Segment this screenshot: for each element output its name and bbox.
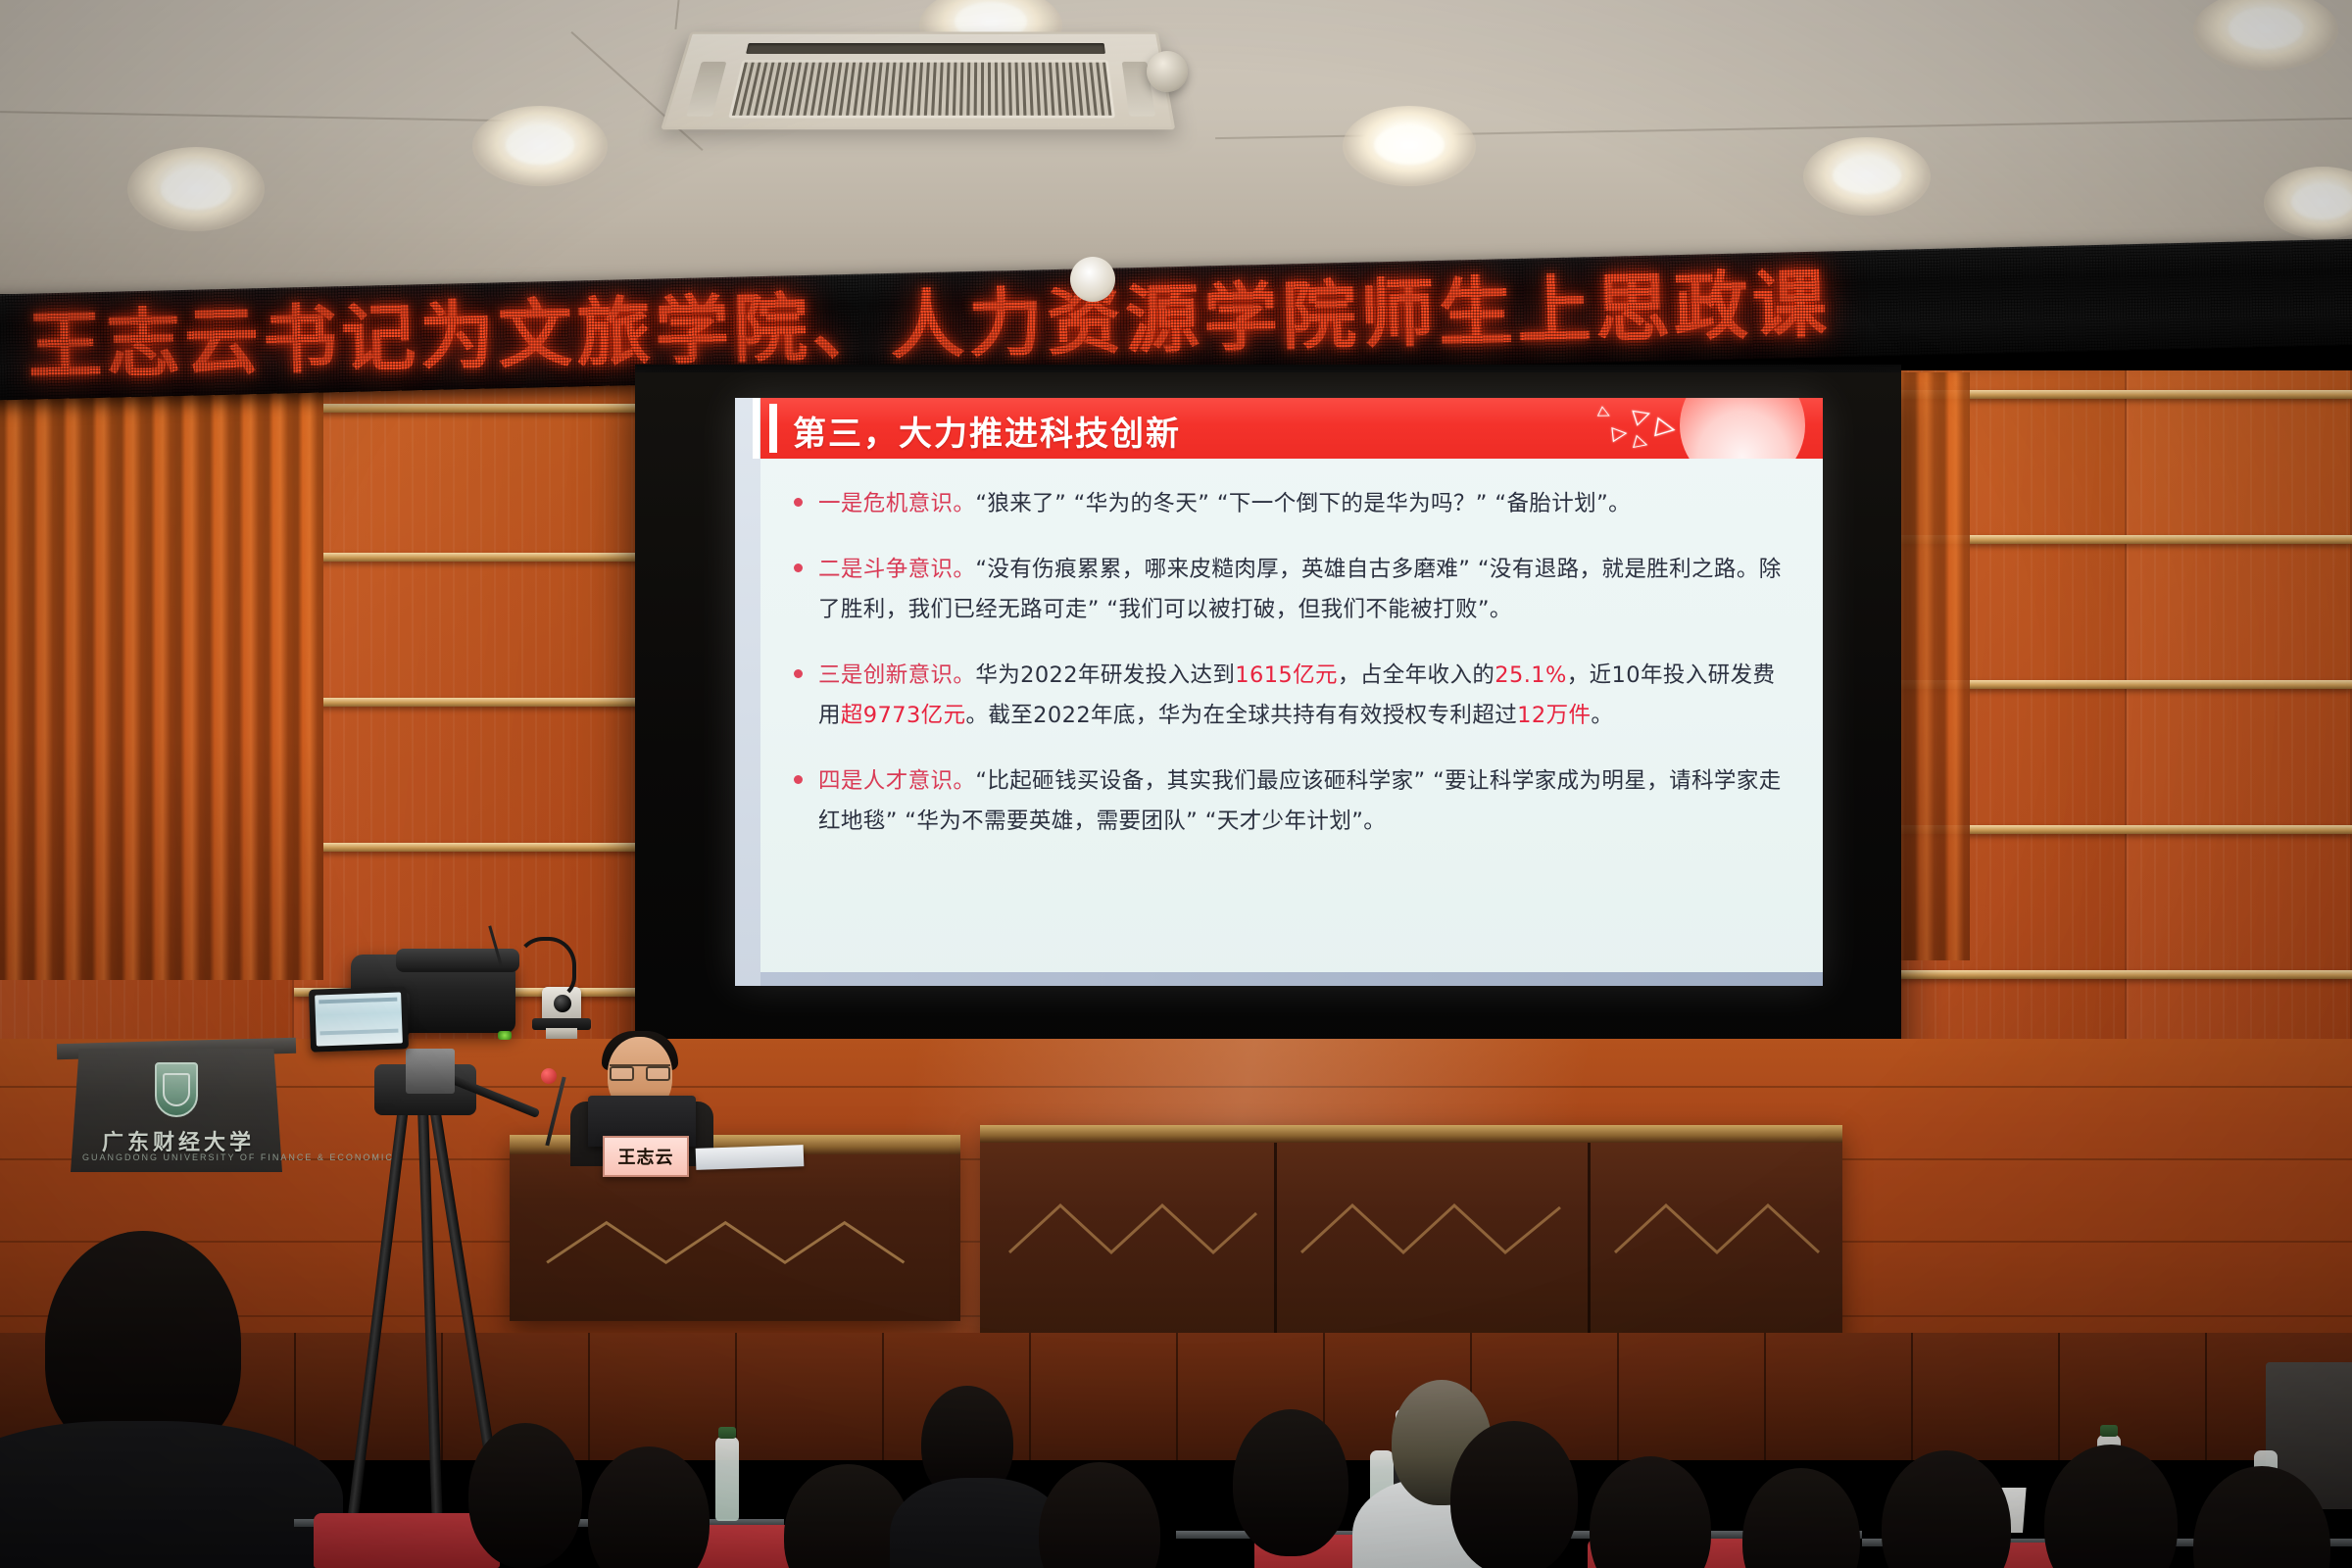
ceiling-downlight [1803, 137, 1931, 216]
dove-icon: ▷ [1597, 404, 1614, 422]
presentation-slide: 第三，大力推进科技创新 ▷ ▷ ▷ ▷ ▷ 一是危机意识。“狼来了” “华为的冬… [735, 398, 1823, 986]
slide-bullet: 三是创新意识。华为2022年研发投入达到1615亿元，占全年收入的25.1%，近… [794, 656, 1789, 736]
ceiling-downlight [2264, 167, 2352, 239]
audience-head [2193, 1466, 2330, 1568]
camera-record-lamp-icon [498, 1031, 512, 1040]
slide-left-accent-bar [735, 398, 760, 986]
university-emblem-icon [155, 1062, 198, 1117]
documents-on-table [696, 1145, 805, 1170]
table-diamond-carving [1000, 1194, 1264, 1262]
bullet-3-hl-rd-spend: 1615亿元 [1235, 662, 1338, 688]
camera-lcd-screen[interactable] [309, 986, 409, 1052]
bullet-text-4: 四是人才意识。“比起砸钱买设备，其实我们最应该砸科学家” “要让科学家成为明星，… [818, 761, 1789, 842]
glasses-icon [610, 1064, 670, 1079]
bullet-dot-icon [794, 669, 803, 678]
ceiling-seam [0, 111, 549, 122]
slide-title: 第三，大力推进科技创新 [793, 407, 1181, 455]
slide-body: 一是危机意识。“狼来了” “华为的冬天” “下一个倒下的是华为吗？” “备胎计划… [760, 459, 1823, 958]
slide-header-tick [769, 404, 777, 453]
ceiling-seam [674, 0, 679, 29]
stage-curtain-left [0, 372, 323, 980]
ceiling-downlight [472, 106, 608, 186]
audience-head [1882, 1450, 2011, 1568]
bullet-dot-icon [794, 498, 803, 507]
ceiling-air-conditioner-icon [661, 32, 1175, 130]
audience-shoulders [0, 1421, 343, 1568]
bullet-3-hl-percent: 25.1% [1494, 662, 1566, 688]
bullet-text-2: 二是斗争意识。“没有伤痕累累，哪来皮糙肉厚，英雄自古多磨难” “没有退路，就是胜… [818, 550, 1789, 630]
bullet-3-hl-decade-total: 超9773亿元 [841, 703, 966, 728]
table-diamond-carving [1294, 1194, 1568, 1262]
rising-sun-icon [1680, 398, 1805, 459]
bullet-3-hl-patents: 12万件 [1517, 703, 1591, 728]
dove-icon: ▷ [1654, 412, 1678, 440]
audience-area [0, 1254, 2352, 1568]
bullet-rest-1: “狼来了” “华为的冬天” “下一个倒下的是华为吗？” “备胎计划”。 [975, 491, 1631, 516]
slide-footer-bar [760, 972, 1823, 986]
audience-head [1039, 1462, 1160, 1568]
ceiling-downlight [127, 147, 265, 231]
bullet-lead-2: 二是斗争意识。 [818, 557, 975, 582]
bullet-3-e: 。 [1591, 703, 1613, 728]
table-diamond-carving [1607, 1194, 1833, 1262]
banner-spotlight-icon [1070, 257, 1115, 302]
podium-university-subtitle: GUANGDONG UNIVERSITY OF FINANCE & ECONOM… [82, 1152, 274, 1162]
nameplate: 王志云 [603, 1136, 689, 1177]
audience-head [1450, 1421, 1578, 1568]
bullet-3-b: ，占全年收入的 [1338, 662, 1494, 688]
slide-header: 第三，大力推进科技创新 ▷ ▷ ▷ ▷ ▷ [760, 398, 1823, 459]
ceiling-downlight [2193, 0, 2338, 71]
bullet-dot-icon [794, 775, 803, 784]
audience-head [1742, 1468, 1860, 1568]
nameplate-text: 王志云 [618, 1144, 674, 1169]
bullet-dot-icon [794, 563, 803, 572]
smoke-detector-icon [1147, 51, 1188, 92]
audience-head [468, 1423, 582, 1568]
bullet-3-d: 。截至2022年底，华为在全球共持有有效授权专利超过 [965, 703, 1517, 728]
video-camera [351, 955, 515, 1033]
bullet-lead-4: 四是人才意识。 [818, 768, 975, 794]
bullet-text-3: 三是创新意识。华为2022年研发投入达到1615亿元，占全年收入的25.1%，近… [818, 656, 1789, 736]
slide-bullet: 二是斗争意识。“没有伤痕累累，哪来皮糙肉厚，英雄自古多磨难” “没有退路，就是胜… [794, 550, 1789, 630]
ceiling-downlight [1343, 106, 1476, 186]
audience-head [1233, 1409, 1348, 1556]
dove-icon: ▷ [1633, 431, 1650, 452]
bullet-text-1: 一是危机意识。“狼来了” “华为的冬天” “下一个倒下的是华为吗？” “备胎计划… [818, 484, 1631, 524]
bullet-lead-1: 一是危机意识。 [818, 491, 975, 516]
dove-icon: ▷ [1611, 422, 1628, 443]
slide-bullet: 一是危机意识。“狼来了” “华为的冬天” “下一个倒下的是华为吗？” “备胎计划… [794, 484, 1789, 524]
camera-mount-plate [406, 1049, 455, 1094]
bullet-3-a: 华为2022年研发投入达到 [975, 662, 1235, 688]
audience-head [2044, 1445, 2178, 1568]
water-bottle-icon [715, 1437, 739, 1521]
audience-head [1590, 1456, 1711, 1568]
slide-bullet: 四是人才意识。“比起砸钱买设备，其实我们最应该砸科学家” “要让科学家成为明星，… [794, 761, 1789, 842]
auditorium-scene: 王志云书记为文旅学院、人力资源学院师生上思政课 第三，大力推进科技创新 ▷ ▷ … [0, 0, 2352, 1568]
camera-cable [515, 937, 576, 1000]
dove-icon: ▷ [1631, 402, 1653, 427]
audience-head [588, 1446, 710, 1568]
bullet-lead-3: 三是创新意识。 [818, 662, 975, 688]
